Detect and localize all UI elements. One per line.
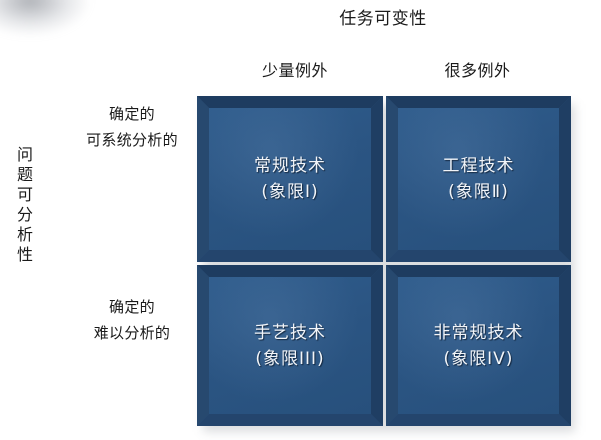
bevel-top-edge <box>386 96 571 108</box>
quadrant-label: 工程技术 (象限Ⅱ) <box>386 153 571 205</box>
row-label-line-1: 确定的 <box>72 101 192 127</box>
bevel-top-edge <box>197 96 383 108</box>
quadrant-number: (象限III) <box>197 346 383 372</box>
corner-shadow-artifact <box>0 0 90 36</box>
quadrant-name: 非常规技术 <box>386 320 571 346</box>
top-axis-title: 任务可变性 <box>283 8 483 30</box>
column-header-few-exceptions: 少量例外 <box>221 61 369 81</box>
left-axis-title-char: 性 <box>12 245 38 265</box>
left-axis-title-char: 分 <box>12 205 38 225</box>
row-label-unanalyzable: 确定的 难以分析的 <box>72 294 192 346</box>
quadrant-number: (象限IV) <box>386 346 571 372</box>
bevel-bottom-edge <box>197 414 383 426</box>
left-axis-title: 问 题 可 分 析 性 <box>12 145 38 265</box>
quadrant-label: 非常规技术 (象限IV) <box>386 320 571 372</box>
bevel-bottom-edge <box>386 250 571 262</box>
technology-matrix: 常规技术 (象限Ⅰ) 工程技术 (象限Ⅱ) 手艺技术 (象限III) 非常规 <box>197 96 571 426</box>
row-label-line-2: 可系统分析的 <box>72 127 192 153</box>
quadrant-label: 常规技术 (象限Ⅰ) <box>197 153 383 205</box>
column-header-many-exceptions: 很多例外 <box>385 61 570 81</box>
quadrant-number: (象限Ⅰ) <box>197 179 383 205</box>
quadrant-name: 常规技术 <box>197 153 383 179</box>
row-label-line-2: 难以分析的 <box>72 320 192 346</box>
quadrant-name: 工程技术 <box>386 153 571 179</box>
left-axis-title-char: 题 <box>12 165 38 185</box>
quadrant-number: (象限Ⅱ) <box>386 179 571 205</box>
bevel-bottom-edge <box>386 414 571 426</box>
quadrant-3-craft-technology[interactable]: 手艺技术 (象限III) <box>197 265 383 426</box>
quadrant-label: 手艺技术 (象限III) <box>197 320 383 372</box>
left-axis-title-char: 可 <box>12 185 38 205</box>
row-label-line-1: 确定的 <box>72 294 192 320</box>
row-label-analyzable: 确定的 可系统分析的 <box>72 101 192 153</box>
bevel-top-edge <box>386 265 571 277</box>
bevel-bottom-edge <box>197 250 383 262</box>
quadrant-4-nonroutine-technology[interactable]: 非常规技术 (象限IV) <box>386 265 571 426</box>
quadrant-1-routine-technology[interactable]: 常规技术 (象限Ⅰ) <box>197 96 383 262</box>
quadrant-name: 手艺技术 <box>197 320 383 346</box>
left-axis-title-char: 析 <box>12 225 38 245</box>
quadrant-2-engineering-technology[interactable]: 工程技术 (象限Ⅱ) <box>386 96 571 262</box>
left-axis-title-char: 问 <box>12 145 38 165</box>
bevel-top-edge <box>197 265 383 277</box>
